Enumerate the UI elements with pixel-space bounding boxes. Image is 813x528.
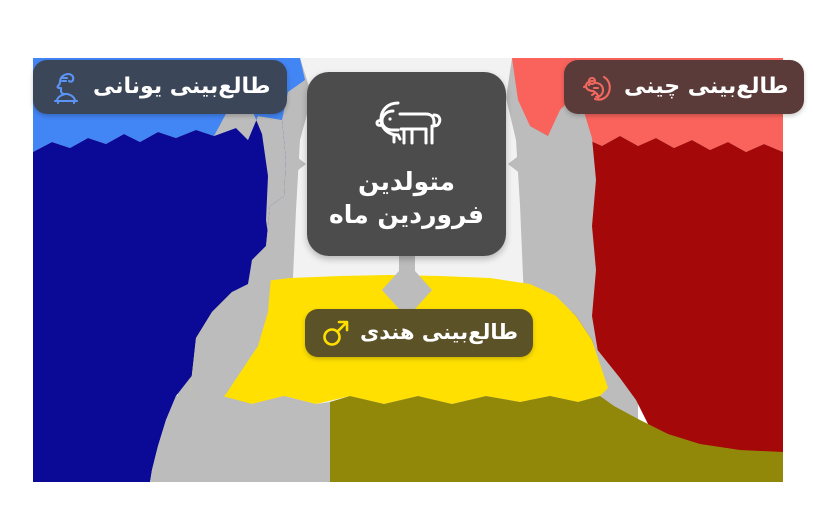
badge-chinese-astrology[interactable]: طالع‌بینی چینی	[564, 60, 804, 114]
center-card-line-2: فروردین ماه	[329, 200, 484, 229]
divider-region	[150, 392, 330, 482]
lion-icon	[368, 95, 446, 151]
center-card[interactable]: متولدین فروردین ماه	[307, 72, 506, 256]
greek-bust-icon	[49, 70, 83, 104]
divider-region	[399, 255, 415, 272]
infographic-canvas: متولدین فروردین ماه طالع‌بینی یونا	[0, 0, 813, 528]
center-card-label: متولدین فروردین ماه	[329, 165, 484, 231]
badge-indian-label: طالع‌بینی هندی	[360, 321, 518, 344]
badge-greek-astrology[interactable]: طالع‌بینی یونانی	[33, 60, 287, 114]
badge-greek-label: طالع‌بینی یونانی	[93, 75, 271, 99]
badge-chinese-label: طالع‌بینی چینی	[624, 75, 788, 99]
badge-indian-astrology[interactable]: طالع‌بینی هندی	[305, 309, 533, 357]
center-card-line-1: متولدین	[358, 167, 455, 196]
mars-symbol-icon	[320, 318, 350, 348]
chinese-rat-zodiac-icon	[580, 70, 614, 104]
